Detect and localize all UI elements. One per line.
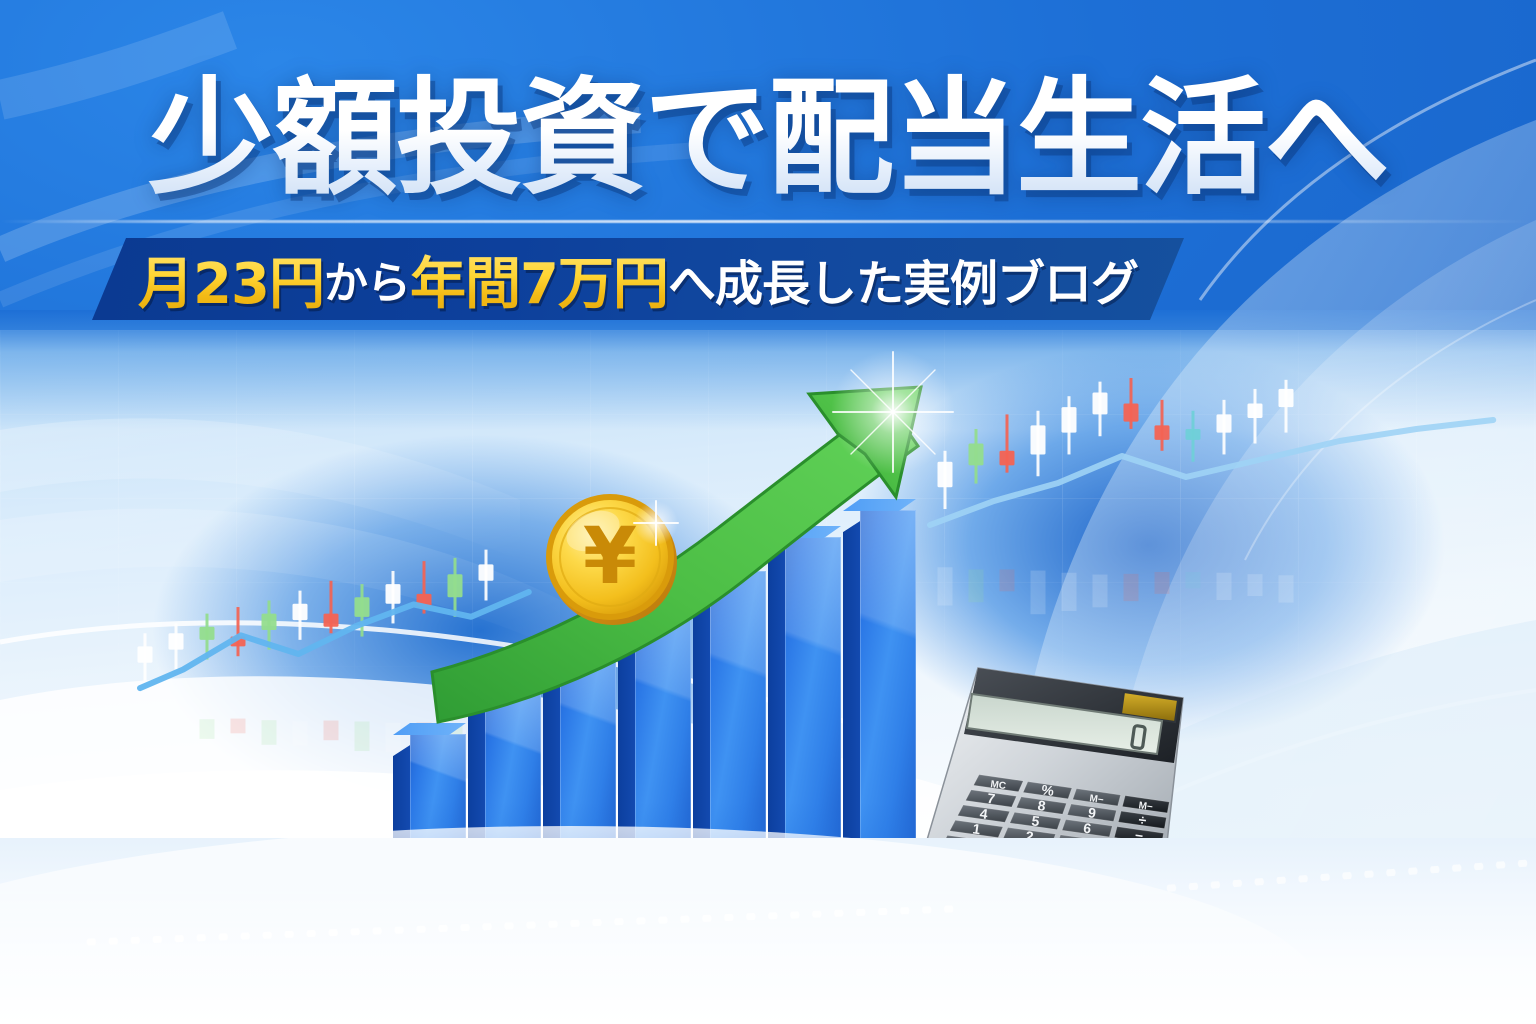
subtitle-run-2: 年間7万円 — [410, 239, 668, 320]
yen-coin: ¥ — [540, 487, 680, 627]
header-divider — [0, 220, 1536, 223]
yen-symbol: ¥ — [583, 512, 637, 602]
subtitle-run-1: から — [324, 247, 410, 311]
subtitle-run-3: へ成長した実例ブログ — [668, 244, 1138, 314]
banner-canvas: ¥ — [0, 0, 1536, 1024]
subtitle-text: 月23円から年間7万円へ成長した実例ブログ — [92, 238, 1184, 320]
subtitle-run-0: 月23円 — [138, 239, 324, 320]
page-title: 少額投資で配当生活へ — [0, 52, 1536, 204]
